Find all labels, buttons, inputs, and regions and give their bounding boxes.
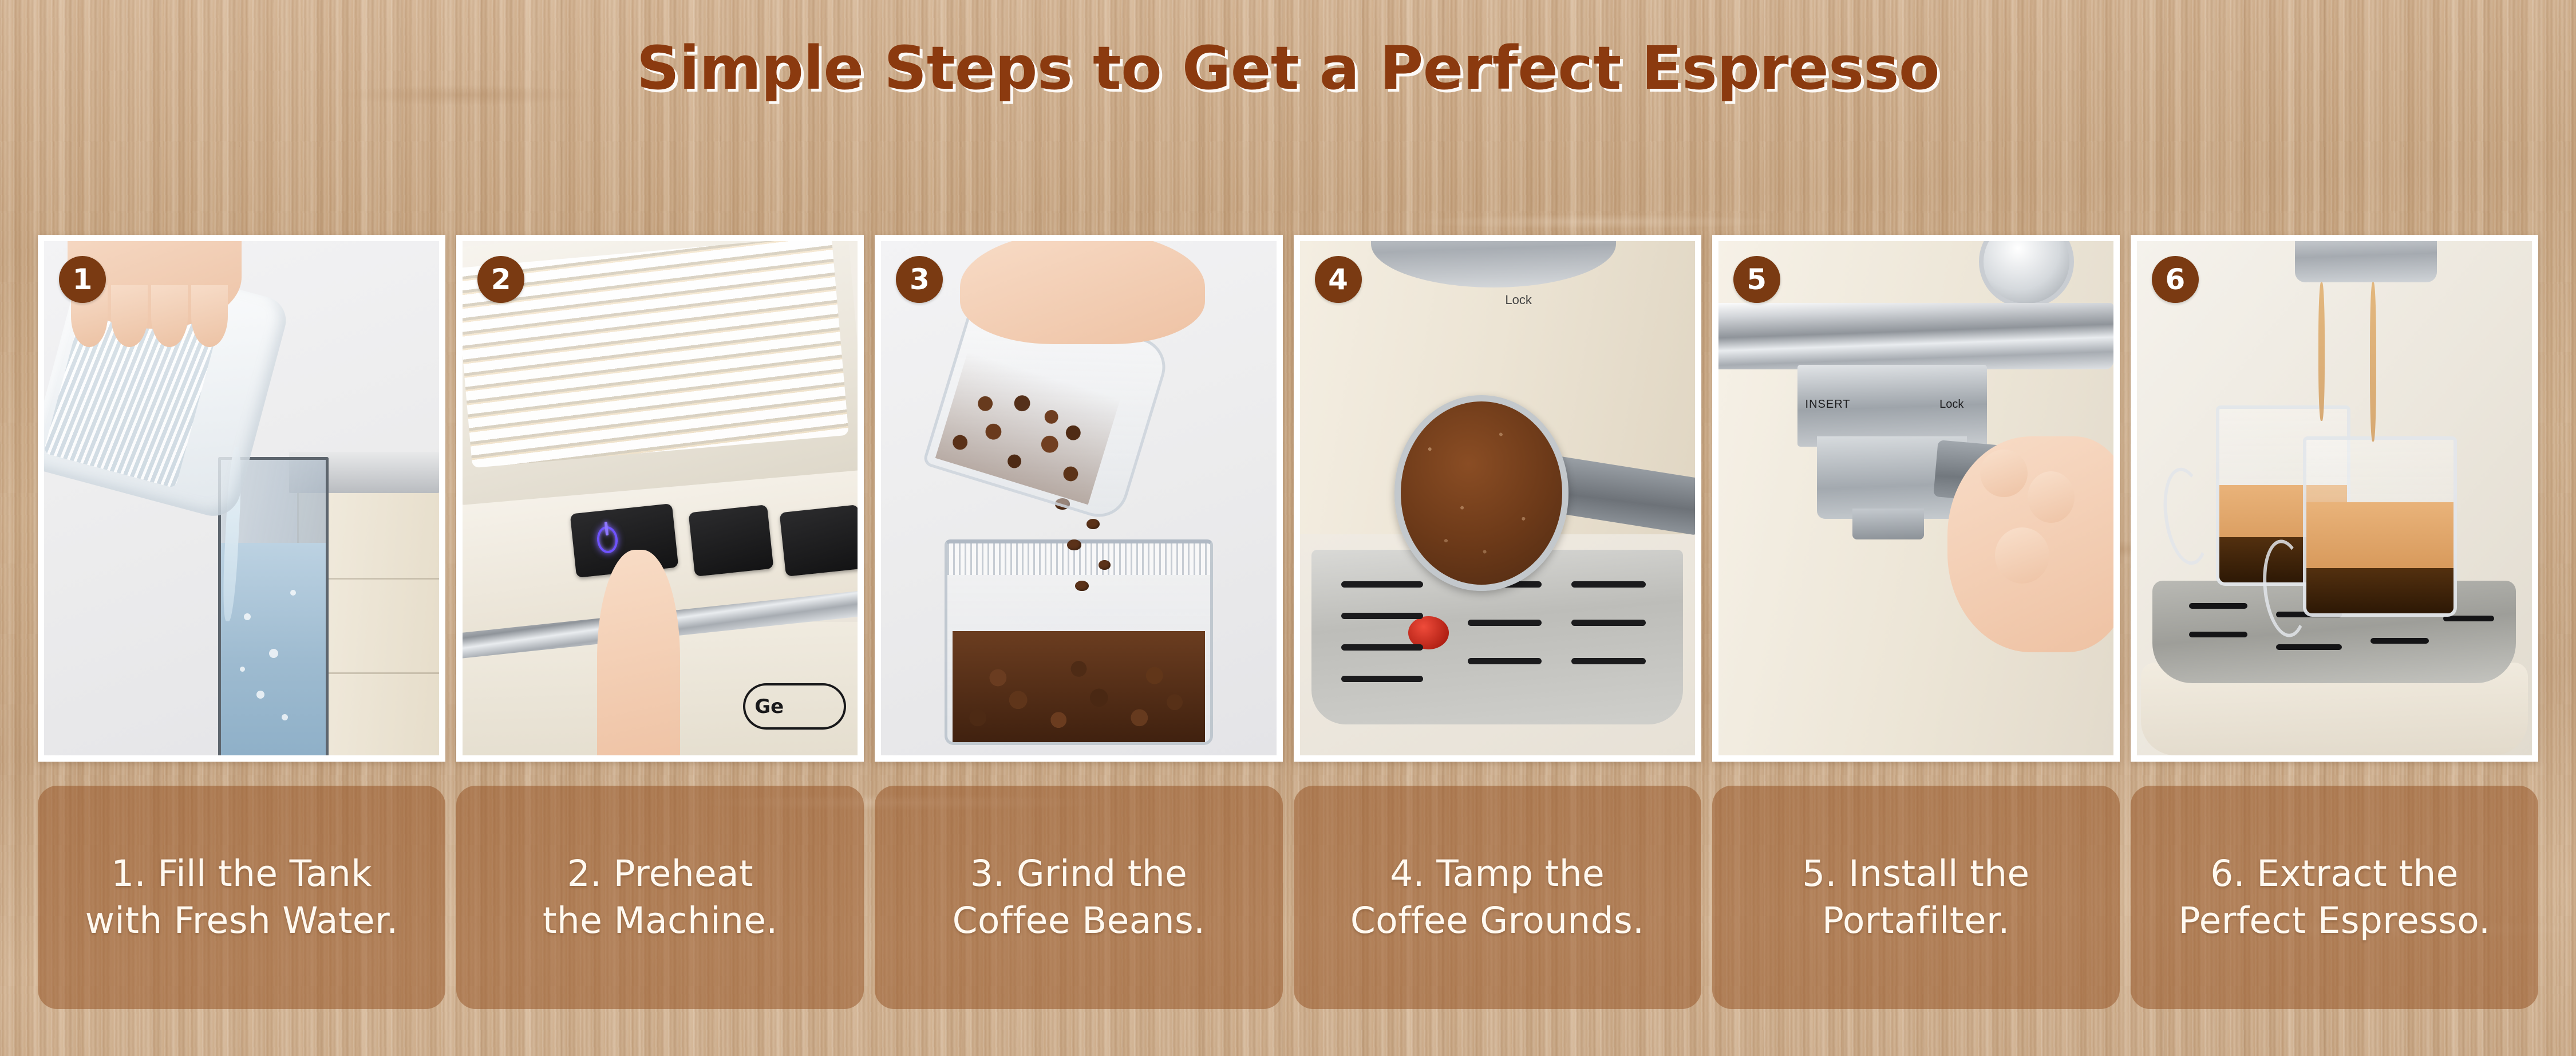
step-badge-2: 2 bbox=[477, 256, 524, 303]
step-caption-card-4[interactable]: 4. Tamp the Coffee Grounds. bbox=[1294, 786, 1701, 1009]
step-photo-4[interactable]: Lock 4 bbox=[1294, 235, 1701, 762]
step-badge-6: 6 bbox=[2152, 256, 2199, 303]
brand-logo: Ge bbox=[743, 683, 846, 730]
step-badge-1: 1 bbox=[59, 256, 106, 303]
page-title: Simple Steps to Get a Perfect Espresso bbox=[637, 33, 1939, 103]
step-caption-row: 1. Fill the Tank with Fresh Water. 2. Pr… bbox=[38, 786, 2538, 1009]
photo-6-image: 6 bbox=[2137, 241, 2532, 755]
photo-4-image: Lock 4 bbox=[1300, 241, 1695, 755]
step-caption-card-6[interactable]: 6. Extract the Perfect Espresso. bbox=[2131, 786, 2538, 1009]
page-header: Simple Steps to Get a Perfect Espresso bbox=[0, 33, 2576, 103]
step-caption-label-3: 3. Grind the Coffee Beans. bbox=[953, 850, 1206, 944]
step-caption-label-2: 2. Preheat the Machine. bbox=[543, 850, 778, 944]
step-caption-label-6: 6. Extract the Perfect Espresso. bbox=[2179, 850, 2491, 944]
insert-label: INSERT bbox=[1805, 398, 1851, 411]
step-caption-label-5: 5. Install the Portafilter. bbox=[1802, 850, 2029, 944]
photo-2-image: Ge 2 bbox=[463, 241, 858, 755]
step-caption-card-3[interactable]: 3. Grind the Coffee Beans. bbox=[875, 786, 1282, 1009]
photo-3-image: 3 bbox=[881, 241, 1276, 755]
step-photo-5[interactable]: INSERT Lock 5 bbox=[1712, 235, 2120, 762]
step-badge-5: 5 bbox=[1733, 256, 1780, 303]
step-badge-4: 4 bbox=[1315, 256, 1362, 303]
photo-5-image: INSERT Lock 5 bbox=[1718, 241, 2113, 755]
step-photo-6[interactable]: 6 bbox=[2131, 235, 2538, 762]
step-caption-card-1[interactable]: 1. Fill the Tank with Fresh Water. bbox=[38, 786, 445, 1009]
step-caption-label-4: 4. Tamp the Coffee Grounds. bbox=[1350, 850, 1645, 944]
step-badge-3: 3 bbox=[896, 256, 943, 303]
step-photo-row: 1 Ge 2 bbox=[38, 235, 2538, 762]
step-caption-label-1: 1. Fill the Tank with Fresh Water. bbox=[85, 850, 398, 944]
machine-lock-label: Lock bbox=[1505, 293, 1531, 308]
step-caption-card-2[interactable]: 2. Preheat the Machine. bbox=[456, 786, 864, 1009]
photo-1-image: 1 bbox=[44, 241, 439, 755]
lock-label: Lock bbox=[1939, 398, 1963, 411]
step-photo-2[interactable]: Ge 2 bbox=[456, 235, 864, 762]
step-caption-card-5[interactable]: 5. Install the Portafilter. bbox=[1712, 786, 2120, 1009]
step-photo-3[interactable]: 3 bbox=[875, 235, 1282, 762]
step-photo-1[interactable]: 1 bbox=[38, 235, 445, 762]
